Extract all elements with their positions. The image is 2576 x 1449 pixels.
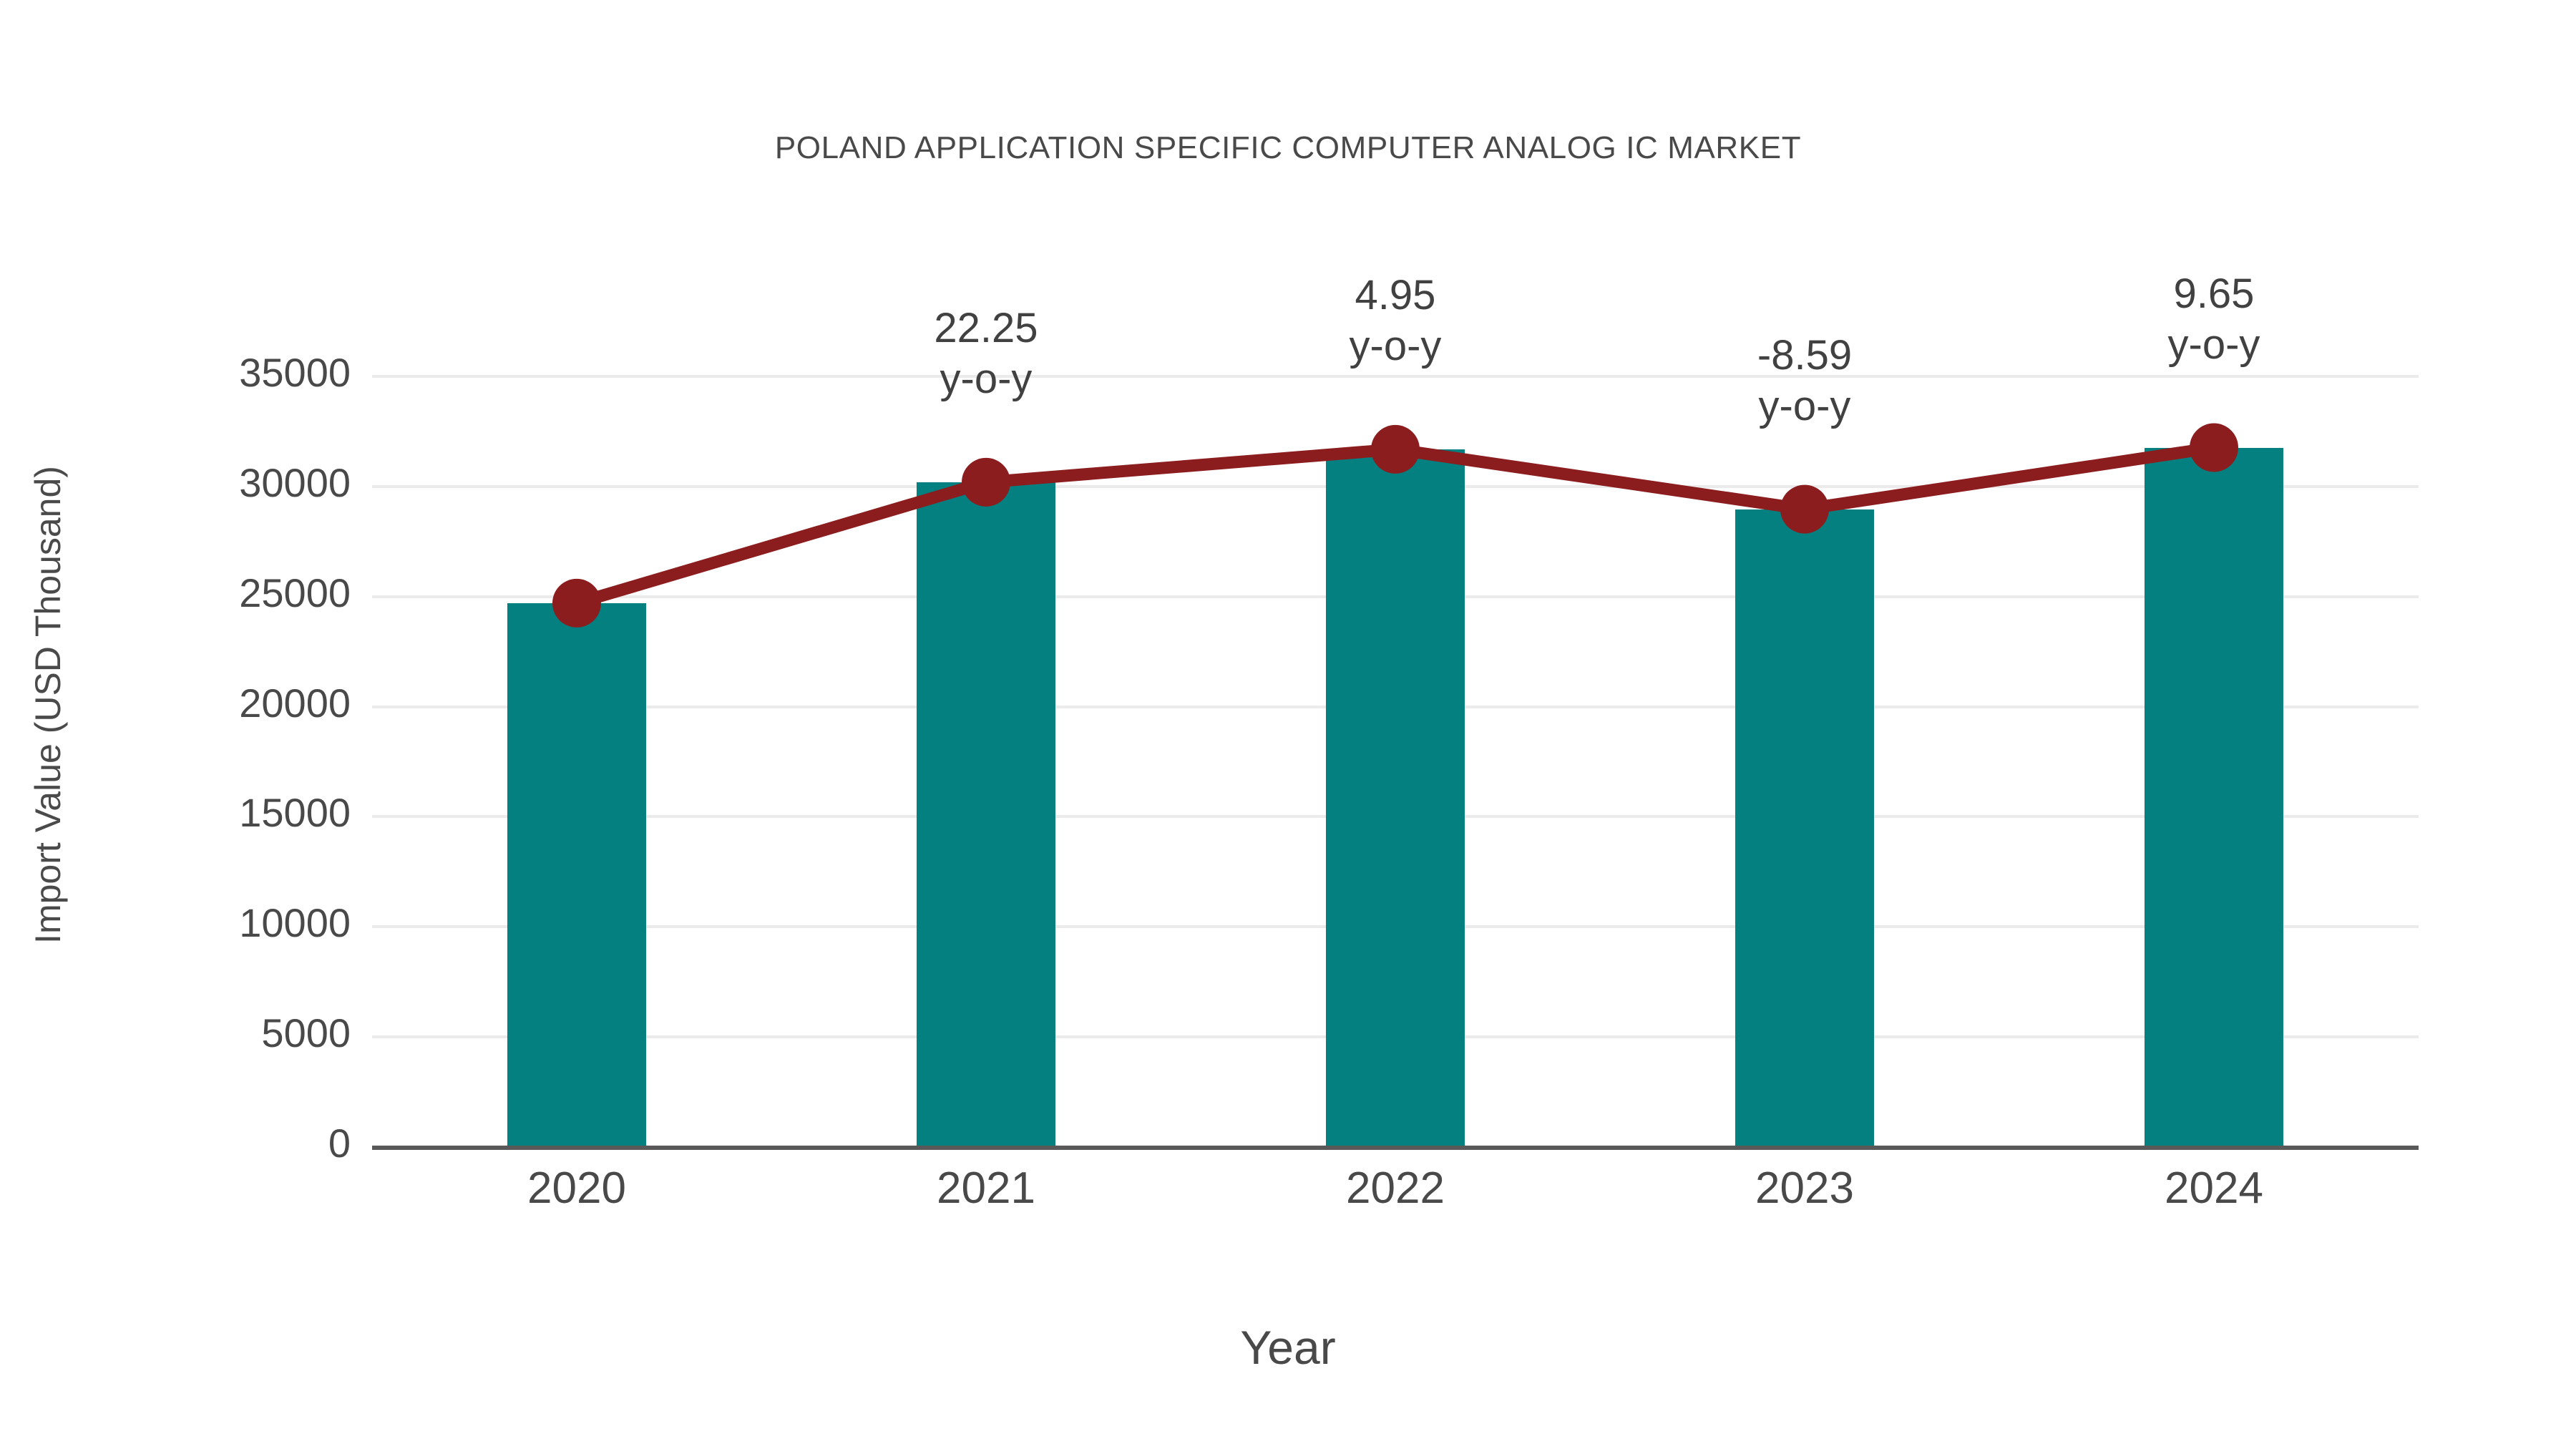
- y-tick-label: 35000: [79, 349, 351, 396]
- y-tick-label: 25000: [79, 570, 351, 616]
- data-label-unit: y-o-y: [1619, 381, 1991, 432]
- data-label-unit: y-o-y: [2028, 320, 2400, 371]
- data-label-unit: y-o-y: [800, 354, 1172, 405]
- y-tick-label: 20000: [79, 680, 351, 726]
- y-tick-label: 15000: [79, 789, 351, 836]
- y-axis-title: Import Value (USD Thousand): [21, 254, 74, 1156]
- x-axis-tick-labels: 20202021202220232024: [372, 1163, 2419, 1241]
- data-label-value: -8.59: [1619, 331, 1991, 381]
- chart-title: POLAND APPLICATION SPECIFIC COMPUTER ANA…: [0, 130, 2576, 166]
- line-marker-2021[interactable]: [962, 458, 1010, 507]
- data-label-2024: 9.65y-o-y: [2028, 269, 2400, 371]
- y-tick-label: 10000: [79, 899, 351, 946]
- x-tick-label-2022: 2022: [1252, 1163, 1538, 1214]
- line-marker-2023[interactable]: [1780, 485, 1829, 534]
- y-axis-tick-labels: 05000100001500020000250003000035000: [79, 0, 351, 1449]
- y-tick-label: 30000: [79, 459, 351, 506]
- line-marker-2024[interactable]: [2190, 424, 2238, 472]
- data-label-value: 4.95: [1209, 270, 1581, 321]
- line-marker-2022[interactable]: [1371, 425, 1420, 474]
- chart-canvas: POLAND APPLICATION SPECIFIC COMPUTER ANA…: [0, 0, 2576, 1449]
- x-tick-label-2020: 2020: [434, 1163, 720, 1214]
- data-label-unit: y-o-y: [1209, 321, 1581, 372]
- y-tick-label: 5000: [79, 1010, 351, 1056]
- data-label-2021: 22.25y-o-y: [800, 303, 1172, 405]
- x-tick-label-2023: 2023: [1662, 1163, 1948, 1214]
- y-tick-label: 0: [79, 1120, 351, 1166]
- line-marker-2020[interactable]: [552, 579, 601, 628]
- data-label-2022: 4.95y-o-y: [1209, 270, 1581, 372]
- line-series-layer: [372, 286, 2419, 1216]
- data-label-value: 9.65: [2028, 269, 2400, 320]
- x-tick-label-2024: 2024: [2071, 1163, 2357, 1214]
- data-label-2023: -8.59y-o-y: [1619, 331, 1991, 432]
- x-axis-title: Year: [0, 1320, 2576, 1375]
- data-label-value: 22.25: [800, 303, 1172, 354]
- x-tick-label-2021: 2021: [843, 1163, 1129, 1214]
